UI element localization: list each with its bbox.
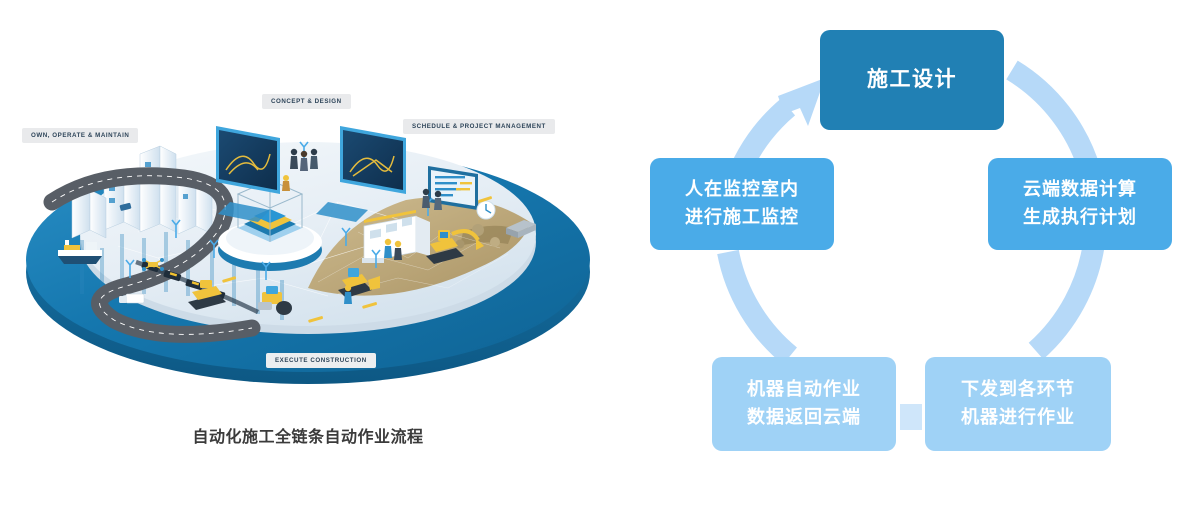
cycle-stage-monitor-line-1: 人在监控室内 [685, 176, 799, 204]
cycle-stage-cloud-line-1: 云端数据计算 [1023, 176, 1137, 204]
cycle-connector-block [900, 404, 922, 430]
cycle-stage-dispatch-line-2: 机器进行作业 [961, 404, 1075, 432]
arrow-robot-to-monitor [728, 252, 790, 356]
cycle-stage-dispatch[interactable]: 下发到各环节 机器进行作业 [925, 357, 1111, 451]
iso-tag-schedule-project-management: SCHEDULE & PROJECT MANAGEMENT [403, 119, 555, 134]
cycle-stage-robot-line-1: 机器自动作业 [747, 376, 861, 404]
cycle-stage-cloud-line-2: 生成执行计划 [1023, 204, 1137, 232]
iso-tag-concept-design: CONCEPT & DESIGN [262, 94, 351, 109]
iso-tag-own-operate-maintain: OWN, OPERATE & MAINTAIN [22, 128, 138, 143]
cycle-stage-cloud-computing[interactable]: 云端数据计算 生成执行计划 [988, 158, 1172, 250]
cycle-stage-robot-operation[interactable]: 机器自动作业 数据返回云端 [712, 357, 896, 451]
illustration-caption: 自动化施工全链条自动作业流程 [0, 423, 616, 447]
cycle-stage-robot-line-2: 数据返回云端 [747, 404, 861, 432]
cycle-stage-monitoring[interactable]: 人在监控室内 进行施工监控 [650, 158, 834, 250]
cycle-stage-dispatch-line-1: 下发到各环节 [961, 376, 1075, 404]
cycle-stage-design[interactable]: 施工设计 [820, 30, 1004, 130]
illustration-panel: OWN, OPERATE & MAINTAIN CONCEPT & DESIGN… [0, 0, 620, 506]
cycle-stage-monitor-line-2: 进行施工监控 [685, 204, 799, 232]
iso-tag-execute-construction: EXECUTE CONSTRUCTION [266, 353, 376, 368]
cycle-diagram-panel: 施工设计 云端数据计算 生成执行计划 下发到各环节 机器进行作业 机器自动作业 … [620, 0, 1200, 506]
cycle-stage-design-line-1: 施工设计 [867, 64, 957, 97]
arrow-cloud-to-dispatch [1036, 243, 1094, 351]
arrow-design-to-cloud [1012, 70, 1090, 171]
